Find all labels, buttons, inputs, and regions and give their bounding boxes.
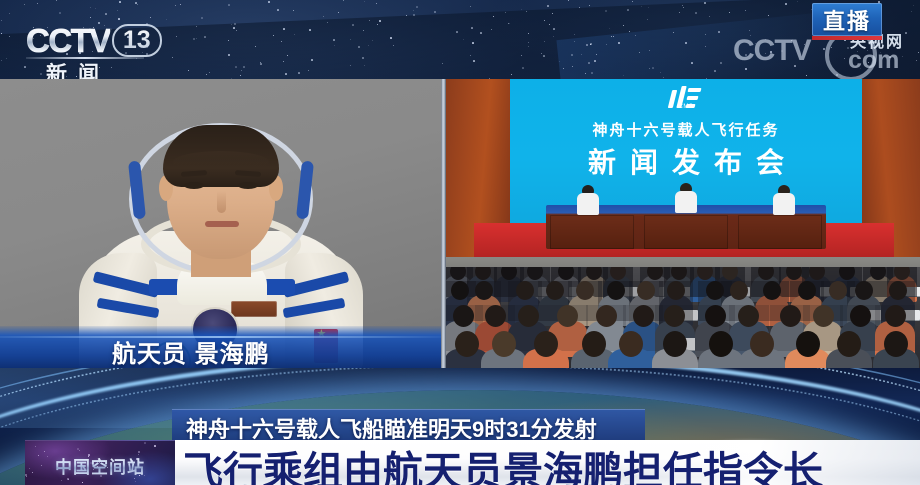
panel-table-section [550,215,634,249]
channel-header-bar: CCTV 13 新闻 CCTV com 央视网 直播 [0,0,920,79]
left-video-pane-astronaut: 航天员 景海鹏 [0,79,441,368]
astronaut-eye-right [238,182,258,189]
cms-logo-label: CMS [679,104,694,110]
astronaut-eye-left [184,182,204,189]
broadcast-screen: CCTV 13 新闻 CCTV com 央视网 直播 [0,0,920,485]
panel-speaker [577,185,599,215]
astronaut-name-caption: 航天员 景海鹏 [112,334,270,368]
live-badge-underline [812,36,882,40]
astronaut-nose [217,191,226,213]
screen-event-title: 新闻发布会 [510,141,862,181]
cctv-wordmark: CCTV [26,24,110,57]
astronaut-mouth [205,221,239,227]
suit-nametag [231,301,277,317]
panel-speaker [773,185,795,215]
channel-number-badge: 13 [112,24,162,57]
china-space-station-badge: 中国空间站 [25,440,175,485]
astronaut-hair [163,125,279,187]
screen-mission-title: 神舟十六号载人飞行任务 [510,119,862,140]
sub-headline-bar: 神舟十六号载人飞船瞄准明天9时31分发射 [172,409,645,440]
astronaut-name-caption-bar: 航天员 景海鹏 [0,326,441,368]
live-badge: 直播 [812,3,882,36]
panel-table-section [644,215,728,249]
china-space-station-label: 中国空间站 [55,453,145,478]
main-headline-text: 飞行乘组由航天员景海鹏担任指令长 [183,439,823,485]
channel-name-label: 新闻 [46,58,110,79]
main-headline-bar: 飞行乘组由航天员景海鹏担任指令长 [175,440,920,485]
right-video-pane-press-conference: CMS 神舟十六号载人飞行任务 新闻发布会 [446,79,920,368]
video-split-view: 航天员 景海鹏 CMS 神舟十六号载人飞行任务 新闻发布会 [0,79,920,368]
live-badge-label: 直播 [823,4,871,36]
cctvcom-wordmark: CCTV [733,34,811,68]
audience-seating [446,267,920,368]
channel-number: 13 [123,26,151,54]
panel-table-section [738,215,822,249]
panel-speaker [675,183,697,213]
cctv13-logo: CCTV 13 [26,24,162,57]
